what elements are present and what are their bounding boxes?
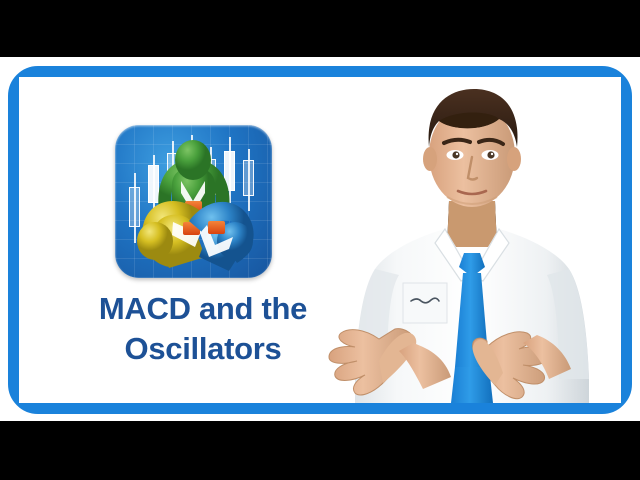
letterbox-bar-bottom [0,421,640,480]
three-people-emblem [115,125,272,278]
video-content-area: MACD and the Oscillators [0,57,640,421]
slide-canvas: MACD and the Oscillators [19,77,621,403]
metatrader-logo [115,125,272,278]
presenter-photo [327,77,621,403]
slide-title-line-1: MACD and the [38,289,368,329]
slide-title-line-2: Oscillators [38,329,368,369]
slide-title: MACD and the Oscillators [38,289,368,369]
head [423,89,521,207]
letterbox-bar-top [0,0,640,57]
person-gold-icon [137,201,205,268]
video-frame: MACD and the Oscillators [0,0,640,480]
